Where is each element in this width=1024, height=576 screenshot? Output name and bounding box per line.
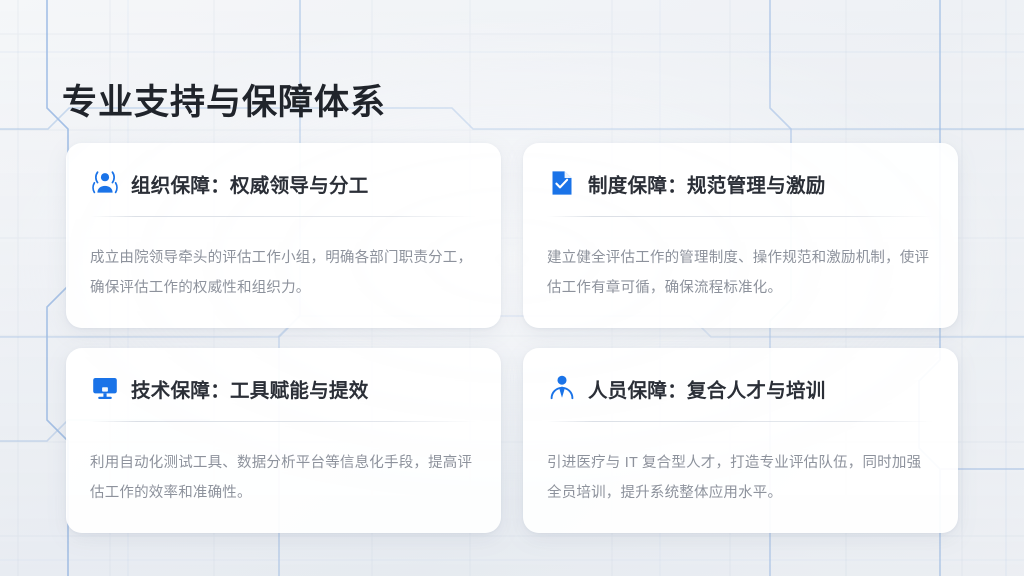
card-header: 人员保障：复合人才与培训 [547,368,934,408]
card-header: 制度保障：规范管理与激励 [547,163,934,203]
card-technology-guarantee[interactable]: 技术保障：工具赋能与提效 利用自动化测试工具、数据分析平台等信息化手段，提高评估… [66,348,501,533]
card-divider [90,216,477,217]
card-system-guarantee[interactable]: 制度保障：规范管理与激励 建立健全评估工作的管理制度、操作规范和激励机制，使评估… [523,143,958,328]
users-group-icon [90,168,120,198]
card-title: 技术保障：工具赋能与提效 [131,374,369,403]
page-title: 专业支持与保障体系 [62,81,386,125]
slide-canvas: 专业支持与保障体系 组织保障：权威领导与分工 成立由院领导 [0,0,1024,576]
card-header: 组织保障：权威领导与分工 [90,163,477,203]
card-personnel-guarantee[interactable]: 人员保障：复合人才与培训 引进医疗与 IT 复合型人才，打造专业评估队伍，同时加… [523,348,958,533]
card-title: 人员保障：复合人才与培训 [588,374,826,403]
card-title: 制度保障：规范管理与激励 [588,169,826,198]
document-check-icon [547,168,577,198]
card-body-text: 成立由院领导牵头的评估工作小组，明确各部门职责分工，确保评估工作的权威性和组织力… [90,243,477,303]
card-divider [547,216,934,217]
card-organisation-guarantee[interactable]: 组织保障：权威领导与分工 成立由院领导牵头的评估工作小组，明确各部门职责分工，确… [66,143,501,328]
card-divider [547,421,934,422]
card-header: 技术保障：工具赋能与提效 [90,368,477,408]
monitor-icon [90,373,120,403]
card-body-text: 引进医疗与 IT 复合型人才，打造专业评估队伍，同时加强全员培训，提升系统整体应… [547,448,934,508]
feature-card-grid: 组织保障：权威领导与分工 成立由院领导牵头的评估工作小组，明确各部门职责分工，确… [66,143,958,533]
person-tie-icon [547,373,577,403]
card-body-text: 利用自动化测试工具、数据分析平台等信息化手段，提高评估工作的效率和准确性。 [90,448,477,508]
card-divider [90,421,477,422]
card-title: 组织保障：权威领导与分工 [131,169,369,198]
card-body-text: 建立健全评估工作的管理制度、操作规范和激励机制，使评估工作有章可循，确保流程标准… [547,243,934,303]
